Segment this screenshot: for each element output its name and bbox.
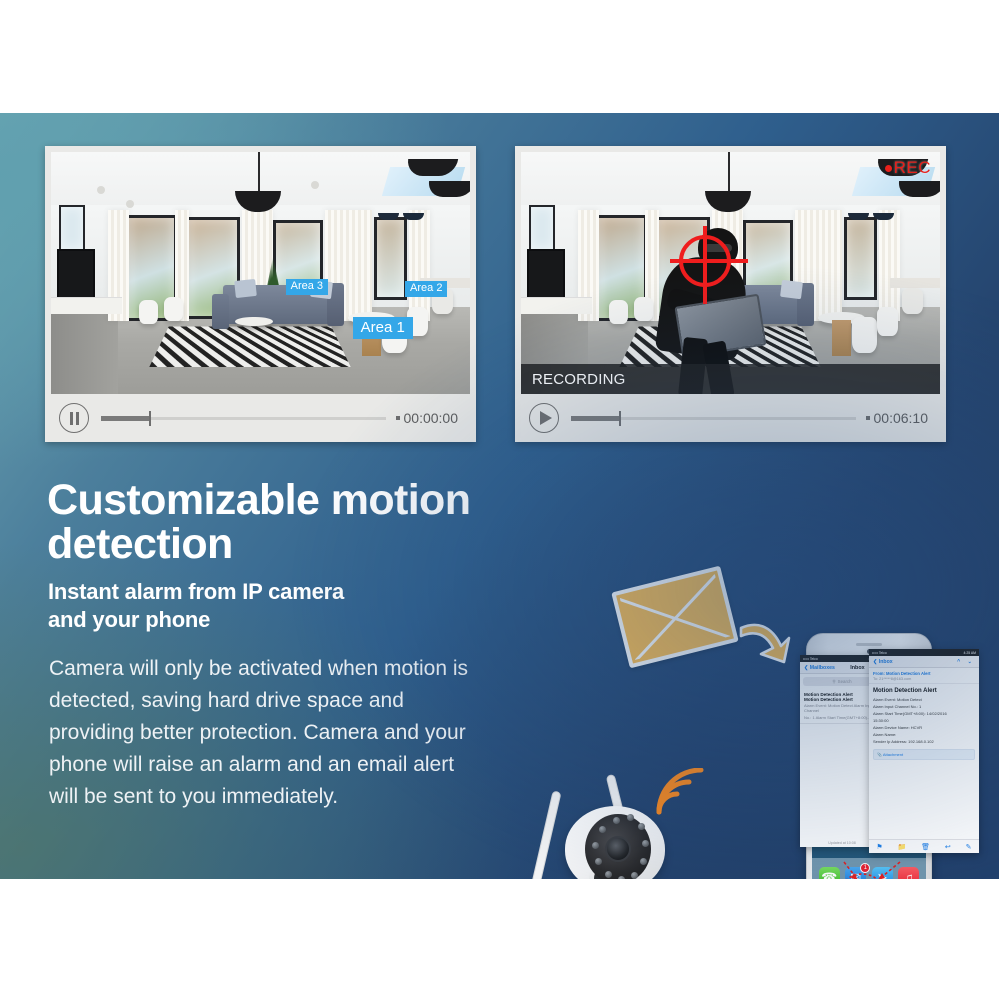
trash-icon[interactable]: 🗑 <box>921 843 930 851</box>
mail-body-line: Sender Ip Address: 192.168.0.102 <box>869 738 979 745</box>
motion-crosshair-icon <box>679 235 731 287</box>
mail-highlight-arrows <box>806 858 932 879</box>
pause-button[interactable] <box>59 403 89 433</box>
area-tag-1[interactable]: Area 1 <box>353 317 413 339</box>
rec-dot-icon <box>885 165 892 172</box>
antenna-left <box>529 790 561 879</box>
rec-label: REC <box>894 158 931 178</box>
mail-body-line: Alarm Event: Motion Detect <box>869 696 979 703</box>
mail-body-line: Alarm Start Time(GMT+8:00): 14/02/2016 <box>869 710 979 717</box>
seek-bar-left[interactable] <box>101 417 386 420</box>
timecode-value: 00:00:00 <box>404 410 459 426</box>
mail-body-line: Alarm Name: <box>869 731 979 738</box>
recording-status-bar: RECORDING <box>521 364 940 394</box>
compose-icon[interactable]: ✎ <box>966 843 972 851</box>
record-square-icon <box>396 416 400 420</box>
mail-detail-window: ••••• Telco 4:25 AM ❮ Inbox ^ ⌄ From: Mo… <box>869 649 979 853</box>
lens-icon <box>605 836 631 862</box>
timecode-value: 00:06:10 <box>874 410 929 426</box>
record-square-icon <box>866 416 870 420</box>
player-controls-right: 00:06:10 <box>521 394 940 442</box>
earpiece-speaker <box>856 643 882 646</box>
mail-body-line: Alarm Input Channel No.: 1 <box>869 703 979 710</box>
player-controls-left: 00:00:00 <box>51 394 470 442</box>
inbox-title: Inbox <box>850 665 864 671</box>
timecode-left: 00:00:00 <box>396 410 463 426</box>
area-tag-2[interactable]: Area 2 <box>405 281 447 297</box>
mail-detail-nav-bar: ❮ Inbox ^ ⌄ <box>869 656 979 668</box>
living-room-scene <box>51 152 470 394</box>
ip-camera-device <box>517 768 707 879</box>
curved-arrow-icon <box>737 618 791 664</box>
status-time: 4:25 AM <box>964 651 976 655</box>
reply-icon[interactable]: ↩ <box>945 843 951 851</box>
status-carrier: ••••• Telco <box>872 651 887 655</box>
mail-from: From: Motion Detection Alert <box>873 671 975 676</box>
mail-body-line: Alarm Device Name: HCVR <box>869 724 979 731</box>
area-tag-3[interactable]: Area 3 <box>286 279 328 295</box>
page-title: Customizable motion detection <box>47 478 567 567</box>
mail-header: From: Motion Detection Alert To: 21*****… <box>869 668 979 684</box>
seek-bar-right[interactable] <box>571 417 856 420</box>
search-icon: ⚲ <box>832 679 835 685</box>
message-pager[interactable]: ^ ⌄ <box>957 659 975 665</box>
status-carrier: ••••• Telco <box>803 657 818 661</box>
pause-icon <box>70 412 79 425</box>
video-player-right: REC RECORDING 00:06:10 <box>515 146 946 442</box>
ios-status-bar: ••••• Telco 4:25 AM <box>869 649 979 656</box>
play-icon <box>540 411 552 425</box>
page-subtitle: Instant alarm from IP camera and your ph… <box>48 578 518 633</box>
mail-body-line: 15:30:00 <box>869 717 979 724</box>
camera-lens-face <box>585 814 651 879</box>
video-screen-left: Area 3 Area 2 Area 1 <box>51 152 470 394</box>
search-placeholder: Search <box>838 679 852 684</box>
email-envelope-icon <box>611 566 739 669</box>
mail-toolbar: ⚑ 📁 🗑 ↩ ✎ <box>869 839 979 853</box>
mail-body-title: Motion Detection Alert <box>869 684 979 696</box>
camera-head <box>565 806 665 879</box>
mail-attachment[interactable]: 📎 Attachment <box>873 749 975 760</box>
mail-to: To: 21*****8@163.com <box>873 677 975 681</box>
video-screen-right: REC RECORDING <box>521 152 940 394</box>
rec-indicator: REC <box>885 158 931 178</box>
flag-icon[interactable]: ⚑ <box>876 843 882 851</box>
wifi-signal-icon <box>653 768 709 816</box>
promo-stage: Area 3 Area 2 Area 1 00:00:00 <box>0 113 999 879</box>
video-player-left: Area 3 Area 2 Area 1 00:00:00 <box>45 146 476 442</box>
back-to-inbox-button[interactable]: ❮ Inbox <box>873 659 893 665</box>
body-paragraph: Camera will only be activated when motio… <box>49 653 469 813</box>
timecode-right: 00:06:10 <box>866 410 933 426</box>
back-to-mailboxes-button[interactable]: ❮ Mailboxes <box>804 665 835 671</box>
folder-icon[interactable]: 📁 <box>898 843 907 851</box>
play-button[interactable] <box>529 403 559 433</box>
